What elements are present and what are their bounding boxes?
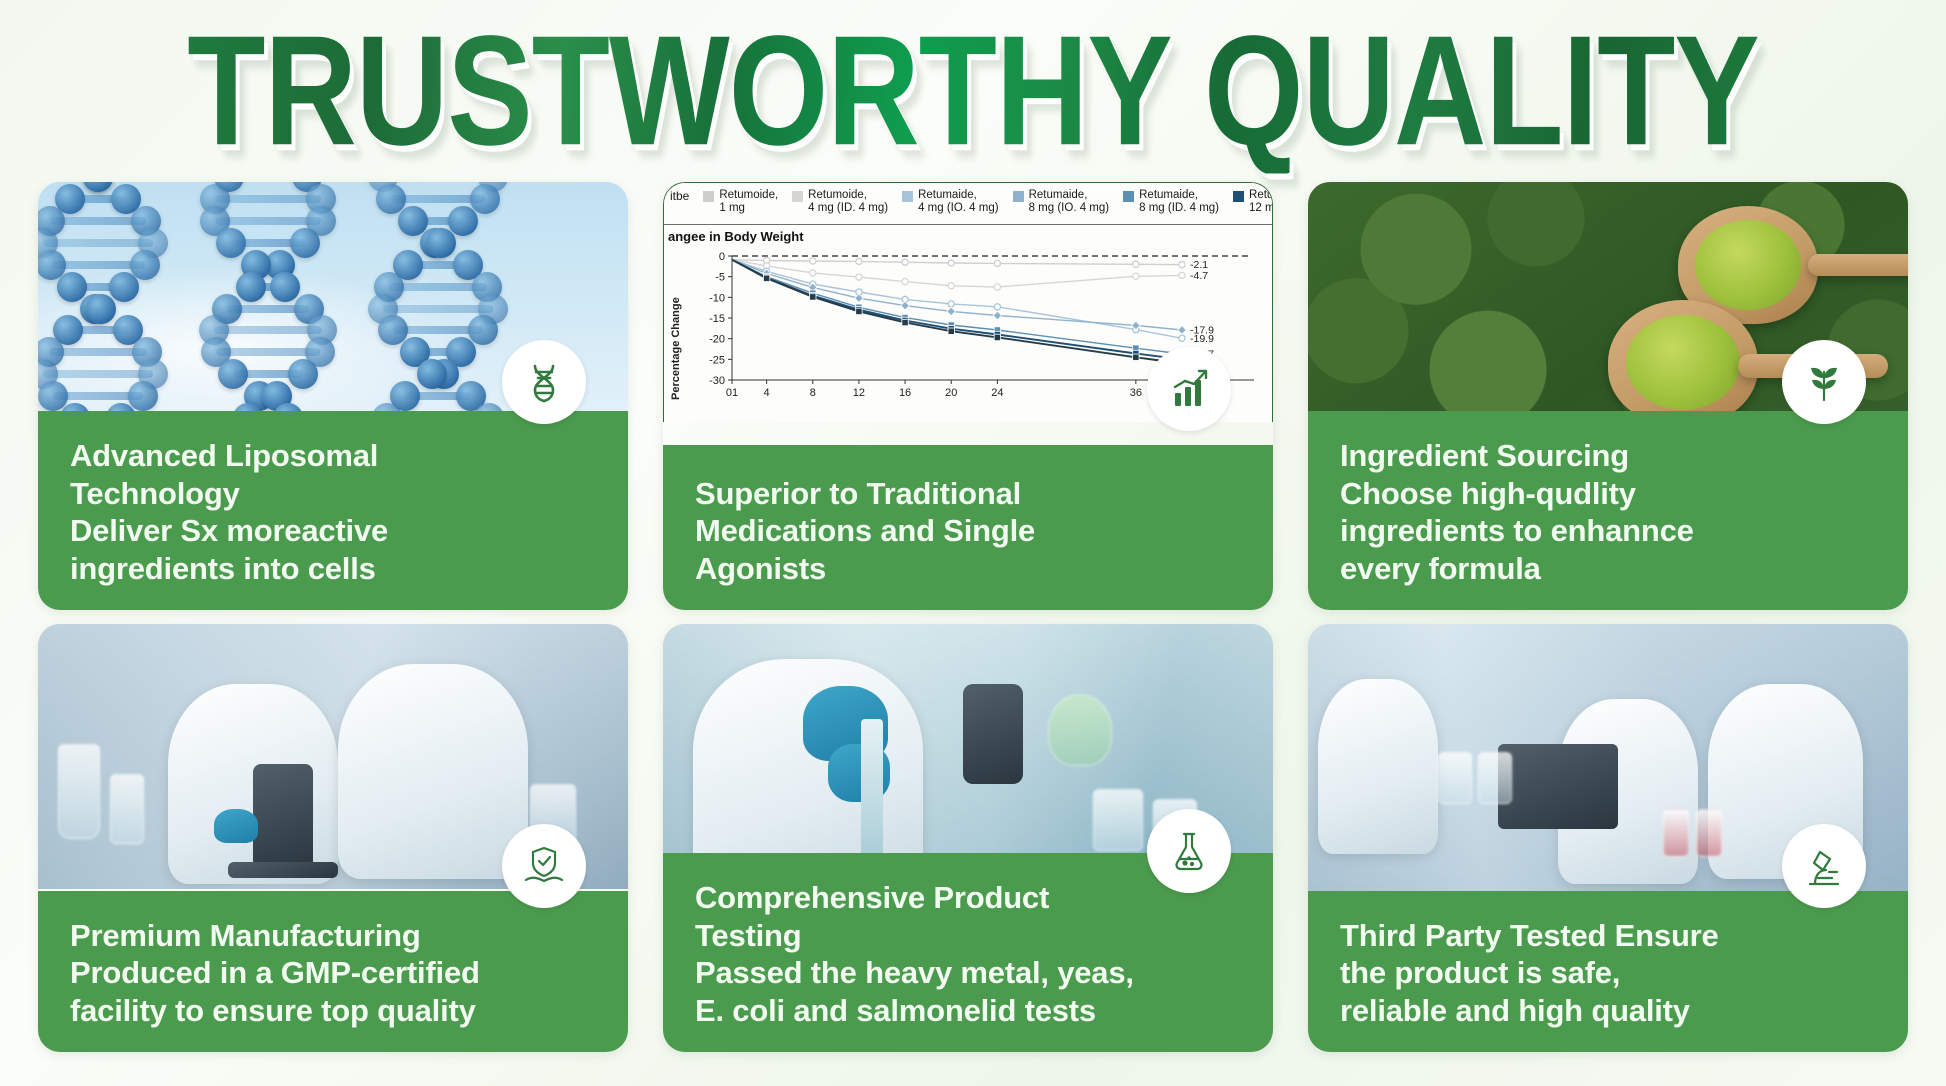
x-tick-label: 20 — [945, 387, 957, 399]
chart-data-point — [902, 279, 908, 285]
chart-data-point — [810, 270, 816, 276]
legend-label: Retumaide,8 mg (ID. 4 mg) — [1139, 189, 1219, 215]
dna-nucleotide — [57, 272, 87, 302]
feature-card-third-party-tested[interactable]: Third Party Tested Ensure the product is… — [1308, 624, 1908, 1052]
chart-data-point — [810, 294, 816, 300]
dna-nucleotide — [236, 272, 266, 302]
legend-item-0[interactable]: Retumoide,1 mg — [703, 189, 778, 215]
chart-data-point — [856, 308, 862, 314]
chart-legend: itbe Retumoide,1 mg Retumoide,4 mg (ID. … — [664, 183, 1272, 225]
hand-shield-check-icon — [502, 824, 586, 908]
dna-nucleotide — [290, 228, 320, 258]
feature-card-superior-to-traditional-medications[interactable]: itbe Retumoide,1 mg Retumoide,4 mg (ID. … — [663, 182, 1273, 610]
feature-card-advanced-liposomal-technology[interactable]: Advanced Liposomal Technology Deliver Sx… — [38, 182, 628, 610]
lab-coat — [338, 664, 528, 879]
chart-data-point — [1133, 261, 1139, 267]
x-tick-label: 8 — [810, 387, 816, 399]
x-tick-label: 01 — [726, 387, 738, 399]
chart-data-point — [902, 259, 908, 265]
dna-nucleotide — [288, 359, 318, 389]
chart-data-point — [1133, 273, 1139, 279]
chart-data-point — [993, 311, 1001, 319]
chart-data-point — [901, 301, 909, 309]
legend-item-4[interactable]: Retumaide,8 mg (ID. 4 mg) — [1123, 189, 1219, 215]
wooden-spoon — [1608, 300, 1758, 422]
chart-data-point — [994, 304, 1000, 310]
legend-prefix: itbe — [670, 189, 689, 203]
dna-rung — [383, 305, 493, 313]
dna-nucleotide — [128, 381, 158, 411]
chart-data-point — [1179, 335, 1185, 341]
chart-data-point — [948, 283, 954, 289]
chart-data-point — [1178, 326, 1186, 334]
x-tick-label: 16 — [899, 387, 911, 399]
leaf-branch-icon — [1782, 340, 1866, 424]
test-tube — [1696, 809, 1722, 857]
dna-nucleotide — [109, 272, 139, 302]
legend-label: Retumaide,8 mg (IO. 4 mg) — [1029, 189, 1110, 215]
card-caption: Advanced Liposomal Technology Deliver Sx… — [38, 411, 628, 610]
chart-title: angee in Body Weight — [664, 225, 1272, 244]
legend-label: Retumoide,4 mg (ID. 4 mg) — [808, 189, 888, 215]
feature-card-premium-manufacturing[interactable]: Premium Manufacturing Produced in a GMP-… — [38, 624, 628, 1052]
card-caption: Ingredient Sourcing Choose high-qudlity … — [1308, 411, 1908, 610]
chart-data-point — [1179, 262, 1185, 268]
card-caption: Premium Manufacturing Produced in a GMP-… — [38, 891, 628, 1052]
x-tick-label: 12 — [853, 387, 865, 399]
y-tick-label: -20 — [709, 334, 725, 346]
legend-label: Retumoidde,12 mg (ID. 4 — [1249, 189, 1272, 215]
x-tick-label: 4 — [764, 387, 770, 399]
dna-nucleotide — [426, 228, 456, 258]
legend-item-2[interactable]: Retumaide,4 mg (IO. 4 mg) — [902, 189, 999, 215]
feature-card-comprehensive-product-testing[interactable]: Comprehensive Product Testing Passed the… — [663, 624, 1273, 1052]
microscope-base — [228, 862, 338, 878]
chart-data-point — [948, 260, 954, 266]
dna-rung — [43, 239, 153, 247]
legend-item-1[interactable]: Retumoide,4 mg (ID. 4 mg) — [792, 189, 888, 215]
dna-rung — [43, 370, 153, 378]
chart-data-point — [994, 334, 1000, 340]
legend-swatch — [703, 191, 714, 202]
y-tick-label: -25 — [709, 354, 725, 366]
chart-series-line — [732, 260, 1182, 354]
chart-data-point — [994, 260, 1000, 266]
legend-swatch — [1233, 191, 1244, 202]
y-tick-label: -5 — [715, 272, 725, 284]
chart-data-point — [902, 319, 908, 325]
glove — [214, 809, 258, 843]
dna-rung — [215, 217, 320, 225]
legend-item-5[interactable]: Retumoidde,12 mg (ID. 4 — [1233, 189, 1272, 215]
feature-card-ingredient-sourcing[interactable]: Ingredient Sourcing Choose high-qudlity … — [1308, 182, 1908, 610]
dna-rung — [215, 195, 322, 203]
dna-nucleotide — [468, 315, 498, 345]
legend-label: Retumaide,4 mg (IO. 4 mg) — [918, 189, 999, 215]
chart-data-point — [856, 274, 862, 280]
chart-data-point — [947, 307, 955, 315]
chart-ylabel: Percentage Change — [670, 297, 682, 400]
chart-data-point — [856, 258, 862, 264]
header: TRUSTWORTHY QUALITY — [0, 0, 1946, 150]
legend-swatch — [1123, 191, 1134, 202]
card-caption: Third Party Tested Ensure the product is… — [1308, 891, 1908, 1052]
dna-nucleotide — [448, 206, 478, 236]
microscope-body — [253, 764, 313, 869]
chart-data-point — [948, 301, 954, 307]
chart-data-point — [994, 284, 1000, 290]
dna-nucleotide — [216, 228, 246, 258]
chart-series-line — [732, 260, 1182, 265]
lab-coat — [1318, 679, 1438, 854]
legend-swatch — [792, 191, 803, 202]
chart-data-point — [948, 328, 954, 334]
beaker — [1093, 789, 1143, 851]
legend-swatch — [902, 191, 913, 202]
dna-nucleotide — [83, 182, 113, 192]
legend-swatch — [1013, 191, 1024, 202]
chart-series-line — [732, 260, 1182, 360]
microscope-body — [963, 684, 1023, 784]
x-tick-label: 36 — [1130, 387, 1142, 399]
bottle — [1438, 752, 1472, 804]
test-tube — [1663, 809, 1689, 857]
chart-data-point — [1179, 272, 1185, 278]
y-tick-label: -30 — [709, 375, 725, 387]
dna-nucleotide — [218, 359, 248, 389]
series-end-label: -4.7 — [1190, 270, 1208, 282]
dna-nucleotide — [398, 206, 428, 236]
chart-data-point — [855, 294, 863, 302]
spoon-handle — [1808, 254, 1908, 276]
bottle — [1478, 752, 1512, 804]
x-tick-label: 24 — [991, 387, 1003, 399]
pipette — [861, 719, 883, 872]
microscope-icon — [1782, 824, 1866, 908]
feature-card-grid: Advanced Liposomal Technology Deliver Sx… — [38, 182, 1908, 1052]
growth-chart-icon — [1147, 347, 1231, 431]
dna-nucleotide — [270, 272, 300, 302]
y-tick-label: -10 — [709, 292, 725, 304]
flask — [1048, 694, 1112, 766]
y-tick-label: 0 — [719, 251, 725, 263]
dna-nucleotide — [470, 184, 500, 214]
series-end-label: -17.9 — [1190, 324, 1214, 336]
chart-data-point — [810, 258, 816, 264]
legend-label: Retumoide,1 mg — [719, 189, 778, 215]
beaker — [110, 774, 144, 844]
legend-item-3[interactable]: Retumaide,8 mg (IO. 4 mg) — [1013, 189, 1110, 215]
chart-data-point — [763, 275, 769, 281]
dna-rung — [214, 326, 322, 334]
card-caption: Superior to Traditional Medications and … — [663, 445, 1273, 610]
dna-nucleotide — [86, 294, 116, 324]
monitor — [1498, 744, 1618, 829]
chart-data-point — [1133, 354, 1139, 360]
dna-icon — [502, 340, 586, 424]
page-title: TRUSTWORTHY QUALITY — [187, 10, 1758, 174]
y-tick-label: -15 — [709, 313, 725, 325]
beaker — [58, 744, 100, 839]
flask-icon — [1147, 809, 1231, 893]
